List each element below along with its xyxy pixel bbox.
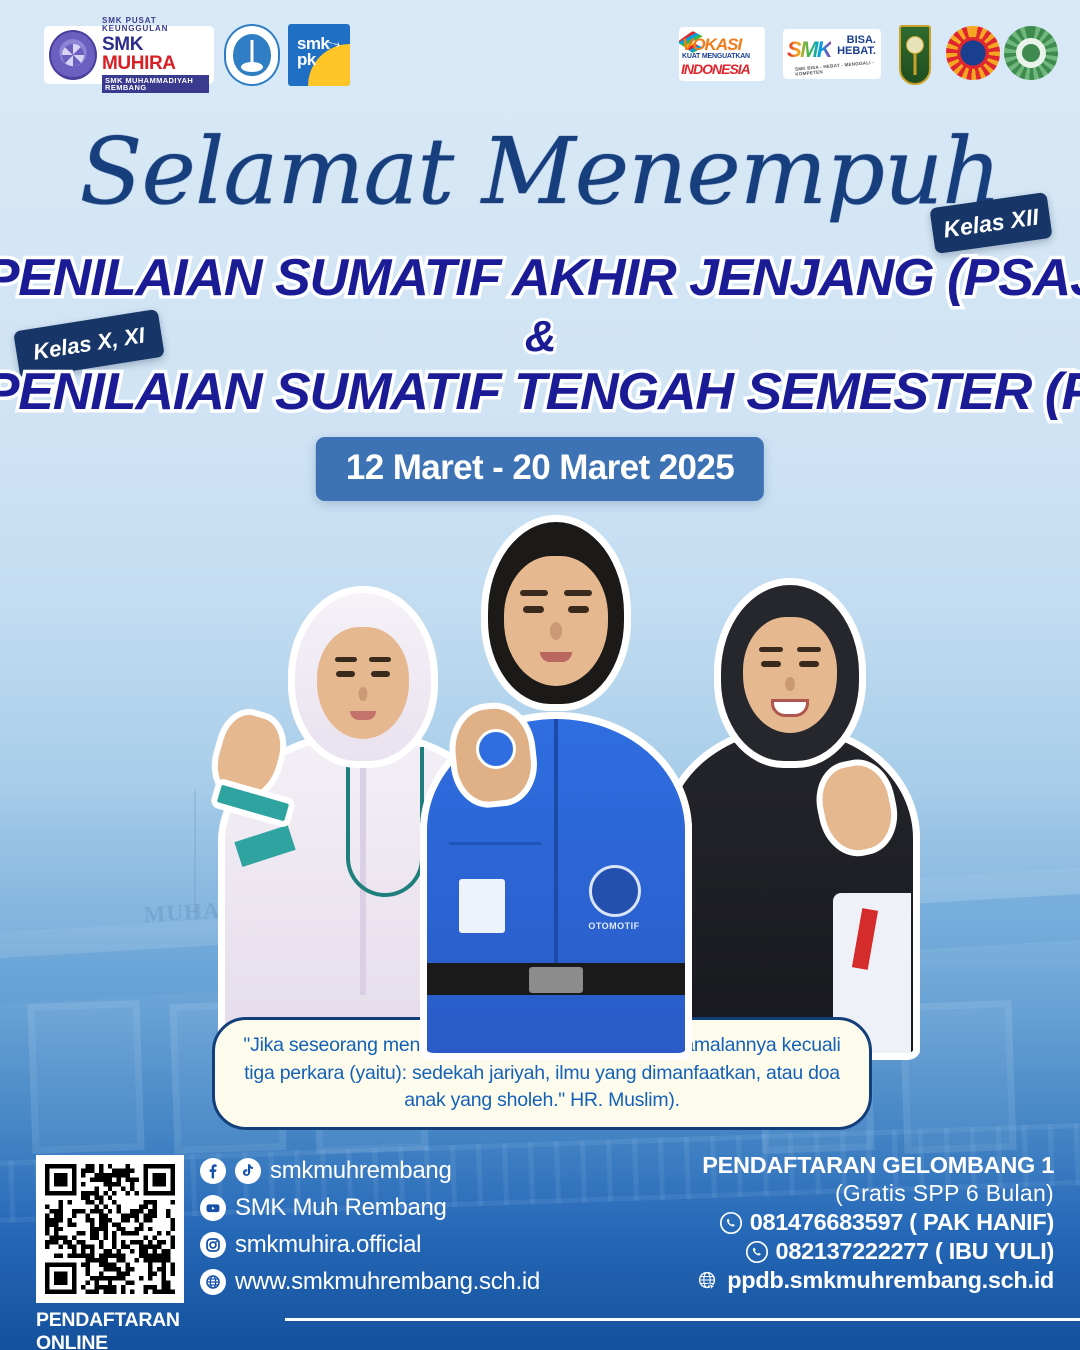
qr-registration-block[interactable]: PENDAFTARAN ONLINE bbox=[36, 1155, 184, 1350]
registration-subtitle: (Gratis SPP 6 Bulan) bbox=[574, 1180, 1054, 1207]
registration-contact-1[interactable]: 081476683597 ( PAK HANIF) bbox=[574, 1209, 1054, 1236]
smk-pk-logo: smkpk ⤍ bbox=[288, 24, 350, 86]
student-right-dark-hijab bbox=[660, 560, 920, 1060]
contact-text-2: 082137222277 ( IBU YULI) bbox=[776, 1238, 1054, 1265]
social-row-facebook-tiktok[interactable]: smkmuhrembang bbox=[200, 1152, 600, 1189]
bisahebat-hebat: HEBAT. bbox=[837, 46, 876, 57]
smk-bisa-hebat-logo: SMK BISA. HEBAT. SMK BISA - HEBAT - MENG… bbox=[782, 28, 882, 80]
aisyiyah-sun-logo bbox=[1002, 24, 1060, 82]
instagram-icon[interactable] bbox=[200, 1232, 226, 1258]
vokasi-kuat-menguatkan-indonesia-logo: VOKASI KUAT MENGUATKAN INDONESIA bbox=[678, 26, 766, 82]
social-links-list: smkmuhrembang SMK Muh Rembang smkmuhira.… bbox=[200, 1152, 600, 1300]
social-handle-facebook-tiktok: smkmuhrembang bbox=[270, 1157, 452, 1185]
social-row-youtube[interactable]: SMK Muh Rembang bbox=[200, 1189, 600, 1226]
muhira-seal-icon bbox=[49, 30, 97, 80]
logo-bar: SMK PUSAT KEUNGGULAN SMK MUHIRA SMK MUHA… bbox=[0, 0, 1080, 110]
contact-text-1: 081476683597 ( PAK HANIF) bbox=[750, 1209, 1054, 1236]
title-line-psaj: PENILAIAN SUMATIF AKHIR JENJANG (PSAJ) bbox=[0, 248, 1080, 308]
uniform-badge-text: OTOMOTIF bbox=[583, 921, 645, 931]
students-photo-group: OTOMOTIF bbox=[0, 500, 1080, 1060]
tiktok-icon[interactable] bbox=[235, 1158, 261, 1184]
qr-code[interactable] bbox=[36, 1155, 184, 1303]
social-handle-instagram: smkmuhira.official bbox=[235, 1231, 421, 1259]
script-greeting: Selamat Menempuh bbox=[0, 126, 1080, 218]
title-line-psts: PENILAIAN SUMATIF TENGAH SEMESTER (PSTS) bbox=[0, 362, 1080, 422]
whatsapp-icon[interactable] bbox=[719, 1211, 743, 1235]
muhira-logo-smk: SMK bbox=[102, 34, 143, 55]
vokasi-line1: VOKASI bbox=[682, 35, 741, 55]
qr-caption: PENDAFTARAN ONLINE bbox=[36, 1309, 184, 1350]
registration-info-block: PENDAFTARAN GELOMBANG 1 (Gratis SPP 6 Bu… bbox=[574, 1152, 1054, 1294]
social-handle-youtube: SMK Muh Rembang bbox=[235, 1194, 447, 1222]
tut-wuri-handayani-logo bbox=[224, 24, 280, 86]
registration-website[interactable]: ppdb.smkmuhrembang.sch.id bbox=[574, 1267, 1054, 1294]
social-row-website[interactable]: www.smkmuhrembang.sch.id bbox=[200, 1263, 600, 1300]
date-range-badge: 12 Maret - 20 Maret 2025 bbox=[316, 437, 764, 501]
youtube-icon[interactable] bbox=[200, 1195, 226, 1221]
poster-canvas: MUHAMMADIYAH REMBANG SMK PUSAT KEUNGGULA… bbox=[0, 0, 1080, 1350]
globe-icon[interactable] bbox=[200, 1269, 226, 1295]
vokasi-line2: KUAT MENGUATKAN bbox=[682, 53, 750, 60]
registration-contact-2[interactable]: 082137222277 ( IBU YULI) bbox=[574, 1238, 1054, 1265]
globe-cursor-icon[interactable] bbox=[696, 1269, 720, 1293]
student-center-blue-uniform: OTOMOTIF bbox=[420, 515, 692, 1060]
footer-divider-line bbox=[285, 1318, 1080, 1321]
muhammadiyah-sun-logo bbox=[944, 24, 1002, 82]
vokasi-line3: INDONESIA bbox=[681, 61, 750, 77]
social-row-instagram[interactable]: smkmuhira.official bbox=[200, 1226, 600, 1263]
smk-muhira-logo: SMK PUSAT KEUNGGULAN SMK MUHIRA SMK MUHA… bbox=[44, 26, 214, 84]
registration-website-text: ppdb.smkmuhrembang.sch.id bbox=[727, 1267, 1054, 1294]
majelis-dikdasmen-shield-logo bbox=[898, 24, 932, 86]
muhira-logo-line1: SMK PUSAT KEUNGGULAN bbox=[102, 17, 209, 33]
muhira-logo-line3: SMK MUHAMMADIYAH REMBANG bbox=[102, 75, 209, 93]
facebook-icon[interactable] bbox=[200, 1158, 226, 1184]
registration-title: PENDAFTARAN GELOMBANG 1 bbox=[574, 1152, 1054, 1179]
whatsapp-icon[interactable] bbox=[745, 1240, 769, 1264]
bisahebat-smk: SMK bbox=[787, 37, 831, 63]
social-handle-website: www.smkmuhrembang.sch.id bbox=[235, 1268, 540, 1296]
muhira-logo-muhira: MUHIRA bbox=[102, 53, 176, 74]
